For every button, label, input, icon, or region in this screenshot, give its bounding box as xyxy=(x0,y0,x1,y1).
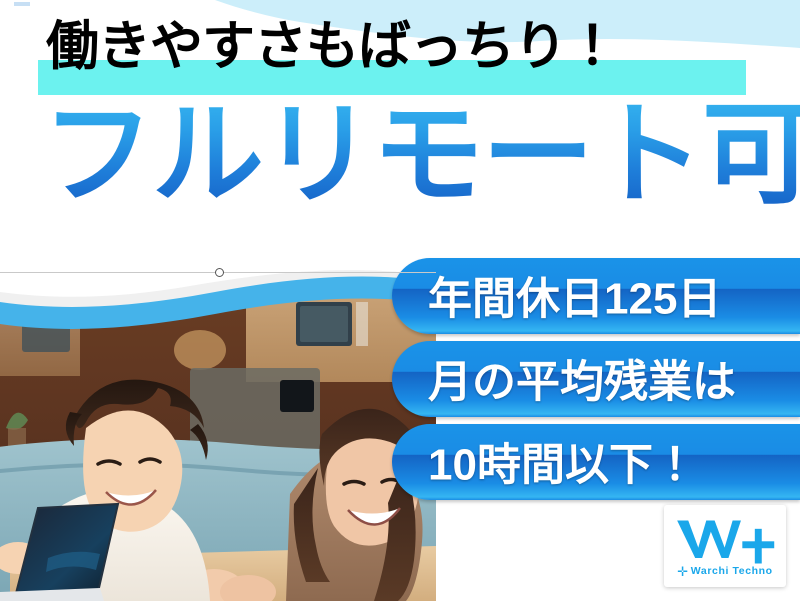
logo-caption-text: Warchi Techno xyxy=(691,565,773,577)
recruitment-banner: 働きやすさもばっちり！ フルリモート可 xyxy=(0,0,800,601)
callout-label: 月の平均残業は xyxy=(428,346,736,410)
corner-tick-icon xyxy=(14,2,30,6)
logo-caption-group: ✛ Warchi Techno xyxy=(677,565,772,578)
headline-primary: 働きやすさもばっちり！ xyxy=(46,18,766,76)
callout-item: 年間休日125日 xyxy=(392,258,800,334)
callout-item: 10時間以下！ xyxy=(392,424,800,500)
slider-handle-dot-icon[interactable] xyxy=(215,268,224,277)
headline-secondary: フルリモート可 xyxy=(42,96,800,214)
headline-one-group: 働きやすさもばっちり！ xyxy=(0,12,800,98)
company-logo: ✛ Warchi Techno xyxy=(664,505,786,587)
callout-label: 10時間以下！ xyxy=(428,429,697,493)
callout-item: 月の平均残業は xyxy=(392,341,800,417)
callout-list: 年間休日125日 月の平均残業は 10時間以下！ xyxy=(392,258,800,507)
plus-icon: ✛ xyxy=(677,565,689,578)
office-photo xyxy=(0,258,436,601)
office-photo-illustration xyxy=(0,258,436,601)
w-plus-logo-icon xyxy=(673,517,777,567)
callout-label: 年間休日125日 xyxy=(428,263,721,327)
